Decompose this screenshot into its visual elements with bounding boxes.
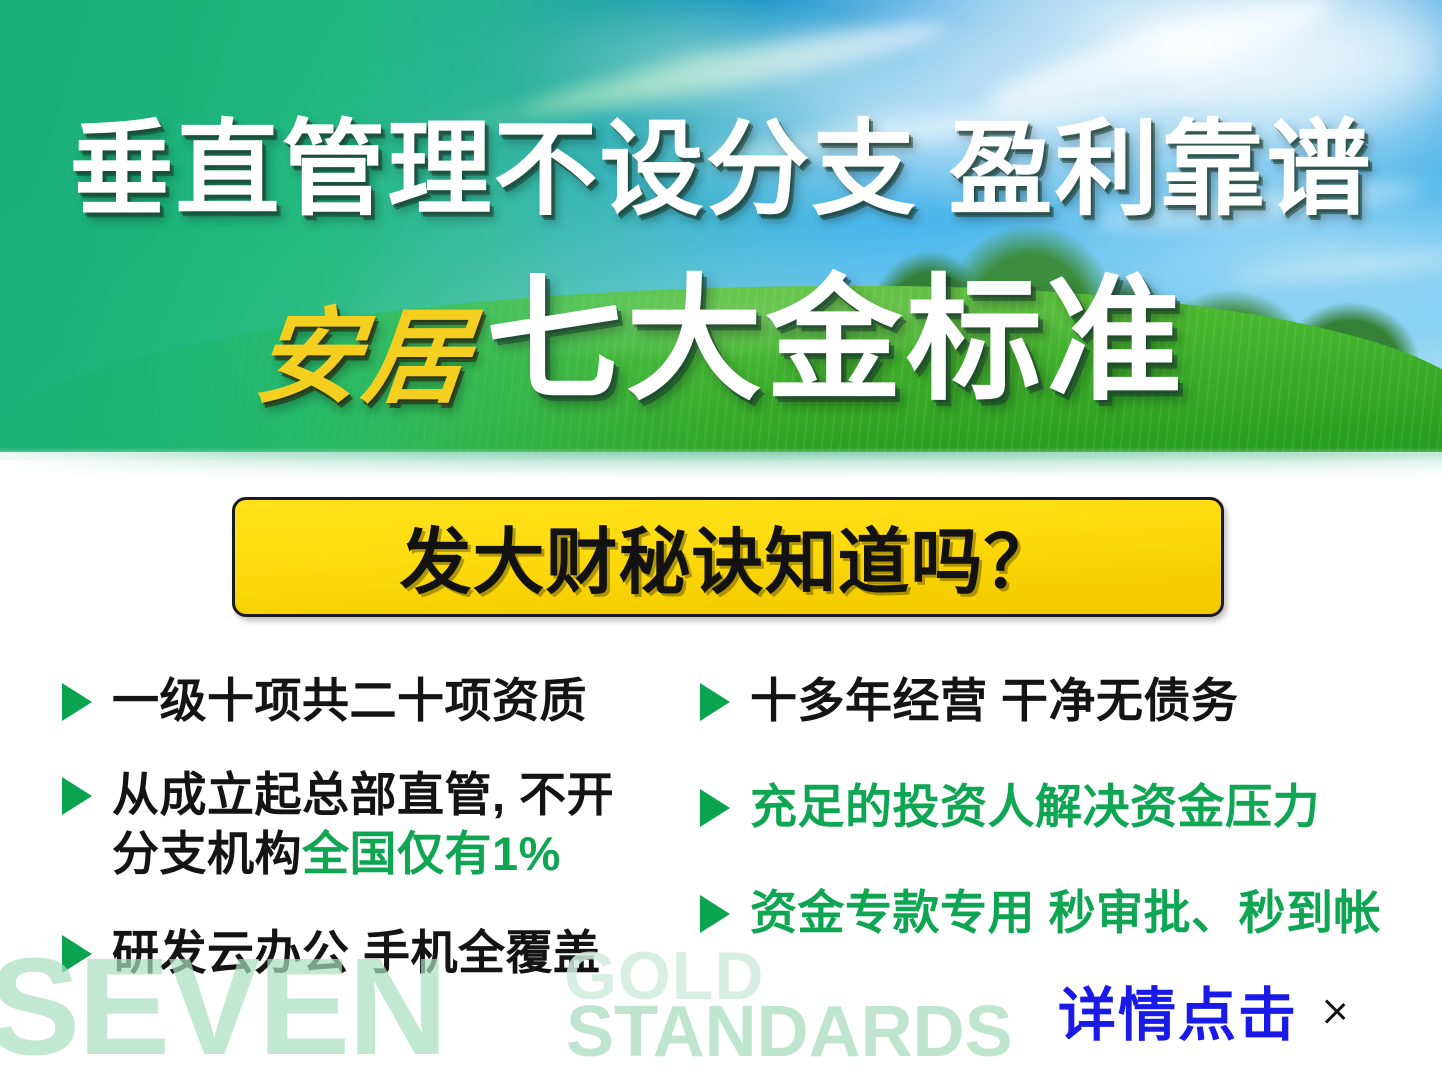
- triangle-bullet-icon: [62, 683, 92, 721]
- hero-divider-strip: [0, 452, 1442, 478]
- chevron-right-icon: [1324, 991, 1346, 1029]
- list-item: 十多年经营 干净无债务: [700, 671, 1239, 730]
- list-item-label: 充足的投资人解决资金压力: [750, 777, 1320, 836]
- list-item-label: 研发云办公 手机全覆盖: [112, 923, 601, 982]
- highlight-banner[interactable]: 发大财秘诀知道吗？: [232, 497, 1224, 617]
- list-item: 充足的投资人解决资金压力: [700, 777, 1320, 836]
- list-item-label: 从成立起总部直管, 不开 分支机构全国仅有1%: [112, 765, 614, 883]
- hero-title-line-1: 垂直管理不设分支 盈利靠谱: [0, 116, 1442, 224]
- list-item-label: 一级十项共二十项资质: [112, 671, 587, 730]
- list-item-label: 资金专款专用 秒审批、秒到帐: [750, 883, 1381, 942]
- details-cta-button[interactable]: 详情点击: [1058, 968, 1346, 1052]
- triangle-bullet-icon: [700, 789, 730, 827]
- list-item-label: 十多年经营 干净无债务: [750, 671, 1239, 730]
- watermark-standards: STANDARDS: [566, 996, 1013, 1066]
- triangle-bullet-icon: [62, 935, 92, 973]
- feature-list: 一级十项共二十项资质 从成立起总部直管, 不开 分支机构全国仅有1% 研发云办公…: [0, 655, 1442, 985]
- hero-title-line-2: 安居七大金标准: [0, 272, 1442, 410]
- details-cta-label: 详情点击: [1058, 968, 1298, 1052]
- list-item: 一级十项共二十项资质: [62, 671, 587, 730]
- triangle-bullet-icon: [700, 683, 730, 721]
- hero-headline: 七大金标准: [486, 272, 1186, 408]
- list-item: 资金专款专用 秒审批、秒到帐: [700, 883, 1381, 942]
- advertisement-banner: 垂直管理不设分支 盈利靠谱 安居七大金标准 发大财秘诀知道吗？ 一级十项共二十项…: [0, 0, 1442, 1066]
- triangle-bullet-icon: [62, 777, 92, 815]
- highlight-banner-text: 发大财秘诀知道吗？: [399, 503, 1056, 608]
- list-item: 研发云办公 手机全覆盖: [62, 923, 601, 982]
- triangle-bullet-icon: [700, 895, 730, 933]
- brand-name-anju: 安居: [251, 306, 478, 410]
- list-item: 从成立起总部直管, 不开 分支机构全国仅有1%: [62, 765, 614, 883]
- list-item-label-highlight: 全国仅有1%: [302, 827, 561, 880]
